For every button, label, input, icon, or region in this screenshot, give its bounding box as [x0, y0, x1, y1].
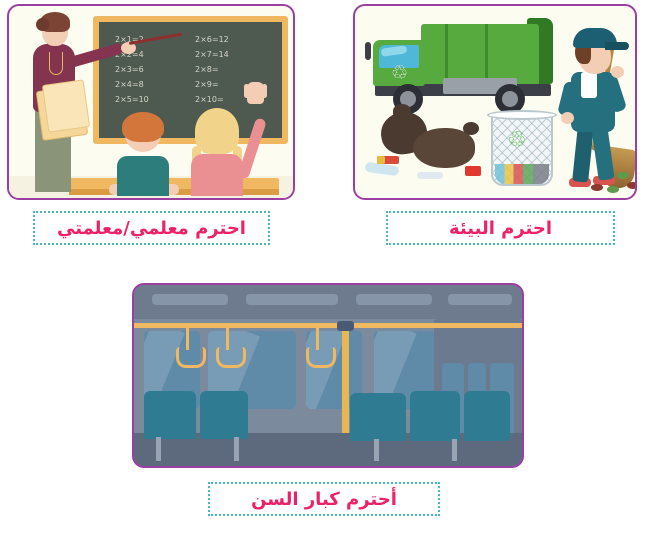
grab-pole [342, 325, 349, 437]
blackboard-column-right: 2×6=12 2×7=14 2×8= 2×9= 2×10= [195, 32, 229, 107]
ceiling-panel [246, 294, 338, 305]
litter-cup [465, 166, 481, 176]
recycle-icon: ♲ [507, 130, 527, 152]
metro-seat [410, 391, 460, 441]
fallen-leaf [591, 184, 603, 191]
overhead-rail [134, 323, 522, 328]
seat-leg [234, 437, 239, 461]
blackboard-line: 2×3=6 [115, 62, 149, 77]
caption-text-environment: احترم البيئة [449, 218, 552, 239]
bin-contents [495, 164, 549, 184]
boy-hair [122, 112, 164, 142]
caption-text-classroom: احترم معلمي/معلمتي [57, 218, 246, 239]
metro-seat [464, 391, 510, 441]
fallen-leaf [617, 172, 629, 179]
metro-seat [144, 391, 196, 439]
caption-box-classroom[interactable]: احترم معلمي/معلمتي [33, 211, 270, 245]
blackboard-line: 2×10= [195, 92, 229, 107]
blackboard-line: 2×4=8 [115, 77, 149, 92]
blackboard-line: 2×8= [195, 62, 229, 77]
card-classroom-image[interactable]: 2×1=2 2×2=4 2×3=6 2×4=8 2×5=10 2×6=12 2×… [7, 4, 295, 200]
trash-bag-2 [413, 128, 475, 168]
seat-leg [452, 439, 457, 461]
seat-leg [374, 439, 379, 461]
worker-cap-brim [605, 42, 629, 50]
truck-container [421, 24, 539, 86]
ceiling-panel [356, 294, 432, 305]
blackboard-line: 2×9= [195, 77, 229, 92]
girl-hair [195, 108, 239, 154]
hand-strap-icon [216, 347, 246, 368]
metro-seat [200, 391, 248, 439]
girl-raised-hand [247, 82, 264, 104]
worker-hand-right [611, 66, 624, 78]
boy-shirt [117, 156, 169, 196]
worker-hand-left [561, 112, 574, 124]
worker-leg-right [591, 125, 614, 181]
ceiling-panel [152, 294, 228, 305]
teacher-folder-front [42, 79, 90, 132]
caption-text-metro: أحترم كبار السن [251, 489, 397, 510]
trash-bag-knot-2 [463, 122, 479, 135]
caption-box-metro[interactable]: أحترم كبار السن [208, 482, 440, 516]
grab-pole-mount [337, 321, 354, 331]
teacher-necklace [49, 52, 63, 75]
blackboard-line: 2×6=12 [195, 32, 229, 47]
worker-leg-left [572, 125, 594, 182]
blackboard-line: 2×7=14 [195, 47, 229, 62]
litter-bottle [417, 172, 443, 179]
hand-strap-icon [176, 347, 206, 368]
blackboard-line: 2×5=10 [115, 92, 149, 107]
worker-shirt [581, 72, 597, 98]
hand-strap-icon [306, 347, 336, 368]
recycle-icon: ♲ [391, 64, 408, 83]
fallen-leaf [607, 186, 619, 193]
seat-leg [156, 437, 161, 461]
card-environment-image[interactable]: ♲ ♲ [353, 4, 637, 200]
ceiling-panel [448, 294, 512, 305]
litter-can-lid [377, 156, 385, 164]
truck-mirror [365, 42, 371, 60]
card-metro-image[interactable] [132, 283, 524, 468]
caption-box-environment[interactable]: احترم البيئة [386, 211, 615, 245]
mesh-bin-rim [487, 110, 557, 120]
girl-dress [191, 154, 243, 196]
metro-seat [350, 393, 406, 441]
teacher-hair-bun [36, 18, 49, 31]
fallen-leaf [627, 182, 637, 189]
